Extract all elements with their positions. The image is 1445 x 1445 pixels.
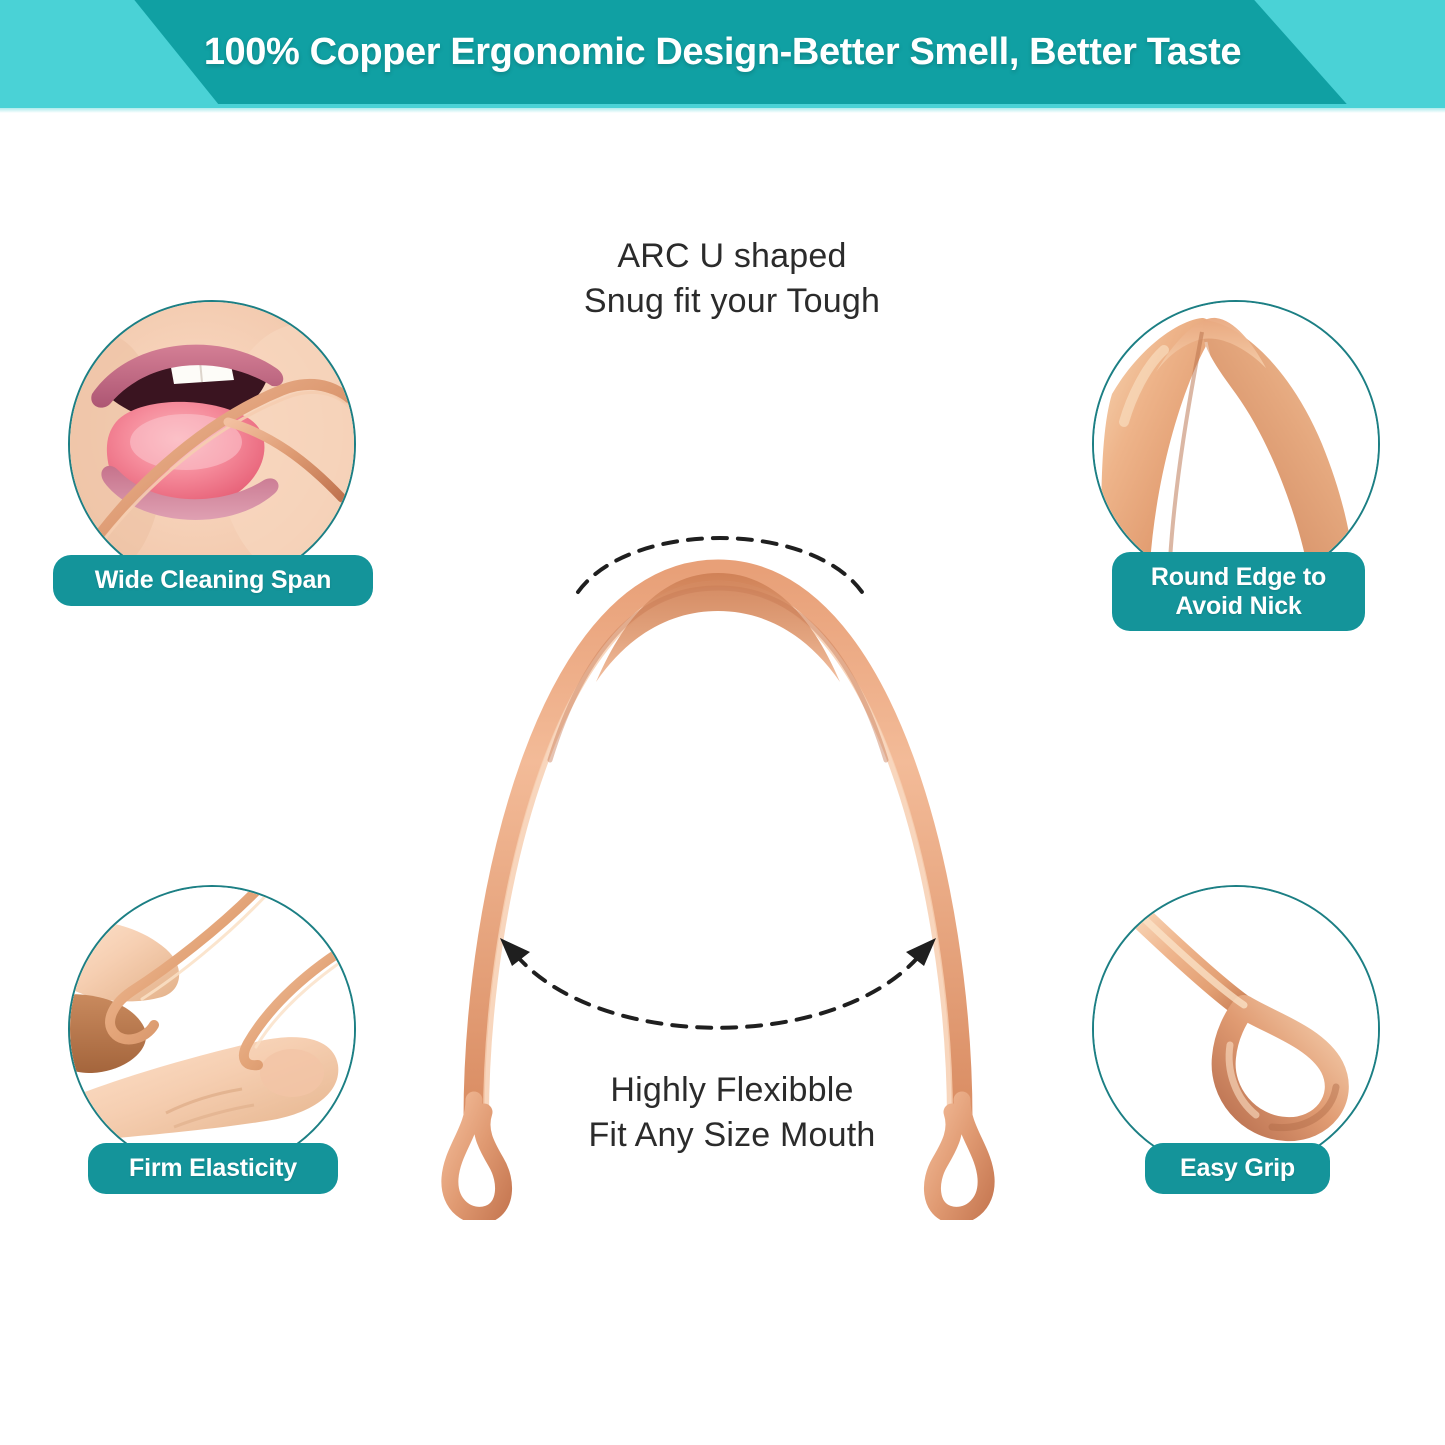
scraper-body — [474, 570, 962, 1120]
banner-title: 100% Copper Ergonomic Design-Better Smel… — [0, 0, 1445, 104]
feature-image-circle — [68, 885, 356, 1173]
feature-label-line1: Round Edge to — [1151, 563, 1326, 591]
feature-image-circle — [1092, 300, 1380, 588]
banner-shadow — [0, 108, 1445, 113]
feature-easy-grip: Easy Grip — [1092, 885, 1382, 1240]
feature-round-edge-to-avoid-nick: Round Edge to Avoid Nick — [1092, 300, 1382, 655]
annotation-bottom-line1: Highly Flexibble — [472, 1068, 992, 1113]
mouth-tongue-scraper-photo — [70, 302, 354, 586]
copper-grip-loop-photo — [1094, 887, 1378, 1171]
feature-label-line2: Avoid Nick — [1175, 592, 1301, 620]
feature-label-text: Wide Cleaning Span — [95, 566, 331, 594]
feature-wide-cleaning-span: Wide Cleaning Span — [68, 300, 358, 655]
feature-image-circle — [68, 300, 356, 588]
feature-label-text: Firm Elasticity — [129, 1154, 297, 1182]
feature-image-circle — [1092, 885, 1380, 1173]
infographic-page: 100% Copper Ergonomic Design-Better Smel… — [0, 0, 1445, 1445]
annotation-bottom-line2: Fit Any Size Mouth — [472, 1113, 992, 1158]
hand-flexing-scraper-photo — [70, 887, 354, 1171]
feature-label-text: Easy Grip — [1180, 1154, 1295, 1182]
feature-label-round-edge-to-avoid-nick: Round Edge to Avoid Nick — [1112, 552, 1365, 631]
annotation-top-line2: Snug fit your Tough — [472, 279, 992, 324]
annotation-top-line1: ARC U shaped — [472, 234, 992, 279]
annotation-top: ARC U shaped Snug fit your Tough — [472, 234, 992, 324]
copper-round-edge-photo — [1094, 302, 1378, 586]
feature-label-wide-cleaning-span: Wide Cleaning Span — [53, 555, 373, 606]
feature-label-easy-grip: Easy Grip — [1145, 1143, 1330, 1194]
feature-label-firm-elasticity: Firm Elasticity — [88, 1143, 338, 1194]
annotation-bottom: Highly Flexibble Fit Any Size Mouth — [472, 1068, 992, 1158]
header-banner: 100% Copper Ergonomic Design-Better Smel… — [0, 0, 1445, 112]
feature-firm-elasticity: Firm Elasticity — [68, 885, 358, 1240]
